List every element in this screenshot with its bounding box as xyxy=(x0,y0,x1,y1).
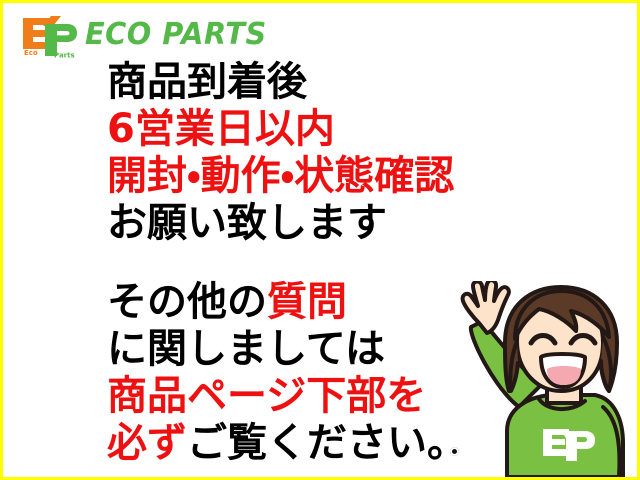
paragraph-spacer xyxy=(107,247,577,279)
notice-line-3: 開封・動作・状態確認 xyxy=(107,153,577,200)
question-line-4: 必ずご覧ください。 xyxy=(107,420,577,467)
eco-parts-mark-icon: Eco Parts xyxy=(17,12,79,58)
notice-line-1: 商品到着後 xyxy=(107,59,577,106)
svg-text:Eco: Eco xyxy=(24,49,38,57)
promo-banner: Eco Parts ECO PARTS 商品到着後 6営業日以内 開封・動作・状… xyxy=(0,0,640,480)
question-line-1: その他の質問 xyxy=(107,279,577,326)
decorative-dot xyxy=(450,447,459,456)
notice-text-block: 商品到着後 6営業日以内 開封・動作・状態確認 お願い致します その他の質問 に… xyxy=(107,59,577,467)
question-line-2-part-1: に関しましては xyxy=(107,326,385,372)
question-line-1-part-2: 質問 xyxy=(267,279,347,325)
question-line-2: に関しましては xyxy=(107,326,577,373)
question-line-1-part-1: その他の xyxy=(107,279,267,325)
question-line-4-part-2: ご覧ください。 xyxy=(187,420,467,466)
brand-logo: Eco Parts ECO PARTS xyxy=(17,11,274,59)
notice-line-2: 6営業日以内 xyxy=(107,106,577,153)
question-line-4-part-1: 必ず xyxy=(107,420,187,466)
notice-line-4: お願い致します xyxy=(107,200,577,247)
question-line-3-part-1: 商品ページ下部を xyxy=(107,373,426,419)
svg-text:Parts: Parts xyxy=(54,52,75,59)
brand-wordmark: ECO PARTS xyxy=(85,20,267,50)
question-line-3: 商品ページ下部を xyxy=(107,373,577,420)
